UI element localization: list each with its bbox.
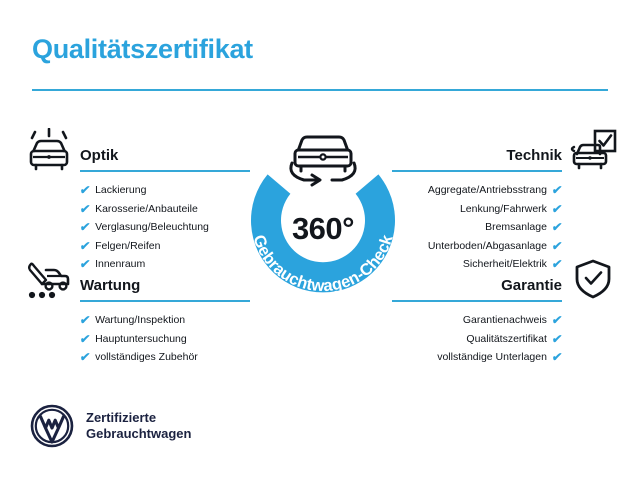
car-shine-icon bbox=[24, 128, 74, 172]
list-item: ✔Hauptuntersuchung bbox=[22, 330, 250, 349]
section-technik-title: Technik bbox=[506, 147, 562, 164]
list-item-label: Bremsanlage bbox=[485, 218, 547, 237]
vw-footer: Zertifizierte Gebrauchtwagen bbox=[30, 404, 191, 448]
list-item-label: Unterboden/Abgasanlage bbox=[428, 237, 547, 256]
list-item: ✔Unterboden/Abgasanlage bbox=[392, 237, 620, 256]
list-item: ✔Lackierung bbox=[22, 181, 250, 200]
check-icon: ✔ bbox=[551, 203, 563, 215]
section-garantie: Garantie ✔Garantienachweis ✔Qualitätszer… bbox=[392, 258, 620, 367]
section-optik: Optik ✔Lackierung ✔Karosserie/Anbauteile… bbox=[22, 128, 250, 274]
check-icon: ✔ bbox=[79, 221, 91, 233]
section-garantie-header: Garantie bbox=[392, 258, 620, 304]
certificate-page: Qualitätszertifikat bbox=[0, 0, 640, 480]
section-technik-header: Technik bbox=[392, 128, 620, 174]
check-icon: ✔ bbox=[79, 184, 91, 196]
list-item: ✔Wartung/Inspektion bbox=[22, 311, 250, 330]
list-item-label: Aggregate/Antriebsstrang bbox=[428, 181, 547, 200]
list-item-label: Felgen/Reifen bbox=[95, 237, 160, 256]
check-icon: ✔ bbox=[79, 333, 91, 345]
check-icon: ✔ bbox=[551, 221, 563, 233]
section-technik: Technik ✔Aggregate/Antriebsstrang ✔Lenku… bbox=[392, 128, 620, 274]
section-wartung-list: ✔Wartung/Inspektion ✔Hauptuntersuchung ✔… bbox=[22, 311, 250, 367]
list-item: ✔Karosserie/Anbauteile bbox=[22, 200, 250, 219]
section-wartung-header: Wartung bbox=[22, 258, 250, 304]
section-optik-title: Optik bbox=[80, 147, 118, 164]
list-item: ✔Aggregate/Antriebsstrang bbox=[392, 181, 620, 200]
list-item-label: vollständige Unterlagen bbox=[437, 348, 547, 367]
list-item-label: Lackierung bbox=[95, 181, 146, 200]
list-item-label: Wartung/Inspektion bbox=[95, 311, 185, 330]
list-item: ✔Bremsanlage bbox=[392, 218, 620, 237]
section-optik-divider bbox=[80, 170, 250, 172]
section-technik-divider bbox=[392, 170, 562, 172]
list-item-label: Garantienachweis bbox=[463, 311, 547, 330]
vw-footer-line1: Zertifizierte bbox=[86, 410, 156, 425]
list-item-label: Qualitätszertifikat bbox=[466, 330, 547, 349]
section-wartung: Wartung ✔Wartung/Inspektion ✔Hauptunters… bbox=[22, 258, 250, 367]
check-icon: ✔ bbox=[79, 314, 91, 326]
vw-footer-line2: Gebrauchtwagen bbox=[86, 426, 191, 441]
list-item-label: Lenkung/Fahrwerk bbox=[460, 200, 547, 219]
section-wartung-divider bbox=[80, 300, 250, 302]
section-garantie-list: ✔Garantienachweis ✔Qualitätszertifikat ✔… bbox=[392, 311, 620, 367]
list-item: ✔vollständiges Zubehör bbox=[22, 348, 250, 367]
vw-footer-text: Zertifizierte Gebrauchtwagen bbox=[86, 410, 191, 442]
list-item-label: Hauptuntersuchung bbox=[95, 330, 187, 349]
header-divider bbox=[32, 89, 608, 91]
vw-logo bbox=[30, 404, 74, 448]
check-icon: ✔ bbox=[79, 240, 91, 252]
section-optik-header: Optik bbox=[22, 128, 250, 174]
section-garantie-divider bbox=[392, 300, 562, 302]
list-item-label: Verglasung/Beleuchtung bbox=[95, 218, 209, 237]
page-title: Qualitätszertifikat bbox=[32, 34, 253, 65]
check-icon: ✔ bbox=[79, 203, 91, 215]
badge-360-gebrauchtwagen-check: Gebrauchtwagen-Check 360° bbox=[233, 123, 413, 308]
list-item: ✔Qualitätszertifikat bbox=[392, 330, 620, 349]
list-item-label: Karosserie/Anbauteile bbox=[95, 200, 198, 219]
check-icon: ✔ bbox=[79, 351, 91, 363]
list-item: ✔Felgen/Reifen bbox=[22, 237, 250, 256]
wrench-car-icon bbox=[24, 258, 74, 302]
shield-check-icon bbox=[568, 258, 618, 302]
list-item: ✔vollständige Unterlagen bbox=[392, 348, 620, 367]
check-icon: ✔ bbox=[551, 184, 563, 196]
check-icon: ✔ bbox=[551, 351, 563, 363]
check-icon: ✔ bbox=[551, 314, 563, 326]
list-item: ✔Lenkung/Fahrwerk bbox=[392, 200, 620, 219]
list-item: ✔Verglasung/Beleuchtung bbox=[22, 218, 250, 237]
list-item: ✔Garantienachweis bbox=[392, 311, 620, 330]
section-wartung-title: Wartung bbox=[80, 277, 140, 294]
list-item-label: vollständiges Zubehör bbox=[95, 348, 198, 367]
check-icon: ✔ bbox=[551, 240, 563, 252]
badge-center-label: 360° bbox=[233, 211, 413, 247]
section-garantie-title: Garantie bbox=[501, 277, 562, 294]
check-icon: ✔ bbox=[551, 333, 563, 345]
car-checkbox-icon bbox=[568, 128, 618, 172]
